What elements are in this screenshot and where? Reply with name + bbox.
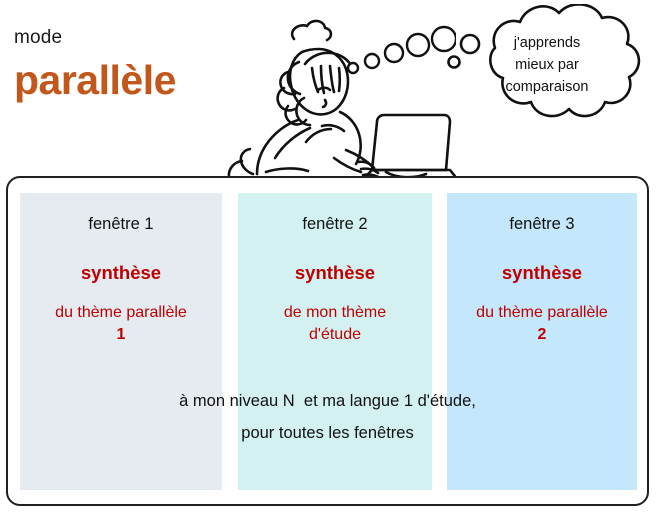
panel-detail-2: de mon thème d'étude	[238, 302, 432, 346]
window-label-3: fenêtre 3	[447, 215, 637, 235]
panel-detail-1: du thème parallèle 1	[20, 302, 222, 346]
slide-canvas: mode parallèle	[0, 0, 657, 515]
panel-detail-2-line1: de mon thème	[238, 302, 432, 324]
panel-detail-3-line2: 2	[447, 324, 637, 346]
panel-detail-1-line1: du thème parallèle	[20, 302, 222, 324]
panel-detail-3: du thème parallèle 2	[447, 302, 637, 346]
panel-backgrounds: fenêtre 1 synthèse du thème parallèle 1 …	[6, 176, 649, 506]
window-label-2: fenêtre 2	[238, 215, 432, 235]
footer-line-2: pour toutes les fenêtres	[6, 417, 649, 449]
synthese-heading-1: synthèse	[20, 262, 222, 284]
thought-line-1: j'apprends	[462, 33, 632, 55]
panel-detail-1-line2: 1	[20, 324, 222, 346]
synthese-heading-3: synthèse	[447, 262, 637, 284]
panel-detail-3-line1: du thème parallèle	[447, 302, 637, 324]
thought-bubble-text: j'apprends mieux par comparaison	[462, 33, 632, 98]
window-label-1: fenêtre 1	[20, 215, 222, 235]
footer-line-1: à mon niveau N et ma langue 1 d'étude,	[6, 385, 649, 417]
thought-trail-icon	[336, 18, 456, 78]
footer-note: à mon niveau N et ma langue 1 d'étude, p…	[6, 385, 649, 449]
thought-line-2: mieux par	[462, 55, 632, 77]
thought-line-3: comparaison	[462, 77, 632, 99]
synthese-heading-2: synthèse	[238, 262, 432, 284]
panel-detail-2-line2: d'étude	[238, 324, 432, 346]
